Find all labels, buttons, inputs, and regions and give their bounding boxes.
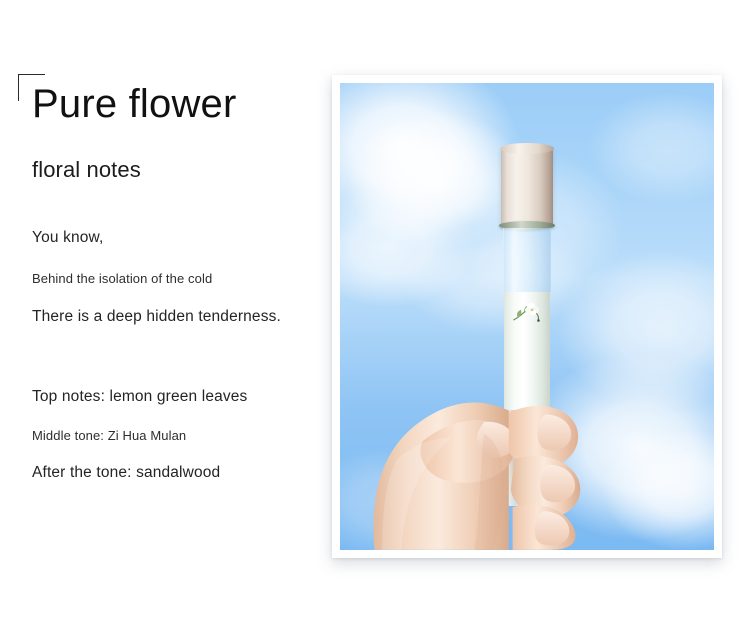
copy-line-1: You know, [32,230,332,246]
page-title: Pure flower [32,82,237,127]
product-photo [340,83,714,550]
note-top: Top notes: lemon green leaves [32,389,332,405]
bottle-cap [501,148,553,226]
note-after: After the tone: sandalwood [32,465,332,481]
copy-line-3: There is a deep hidden tenderness. [32,309,332,325]
page-subtitle: floral notes [32,157,141,183]
hand-illustration [340,279,714,550]
copy-block: You know, Behind the isolation of the co… [32,230,332,324]
text-column: Pure flower floral notes You know, Behin… [0,0,340,644]
note-middle: Middle tone: Zi Hua Mulan [32,429,332,442]
copy-line-2: Behind the isolation of the cold [32,272,332,285]
product-photo-card [332,75,722,558]
notes-block: Top notes: lemon green leaves Middle ton… [32,389,332,480]
